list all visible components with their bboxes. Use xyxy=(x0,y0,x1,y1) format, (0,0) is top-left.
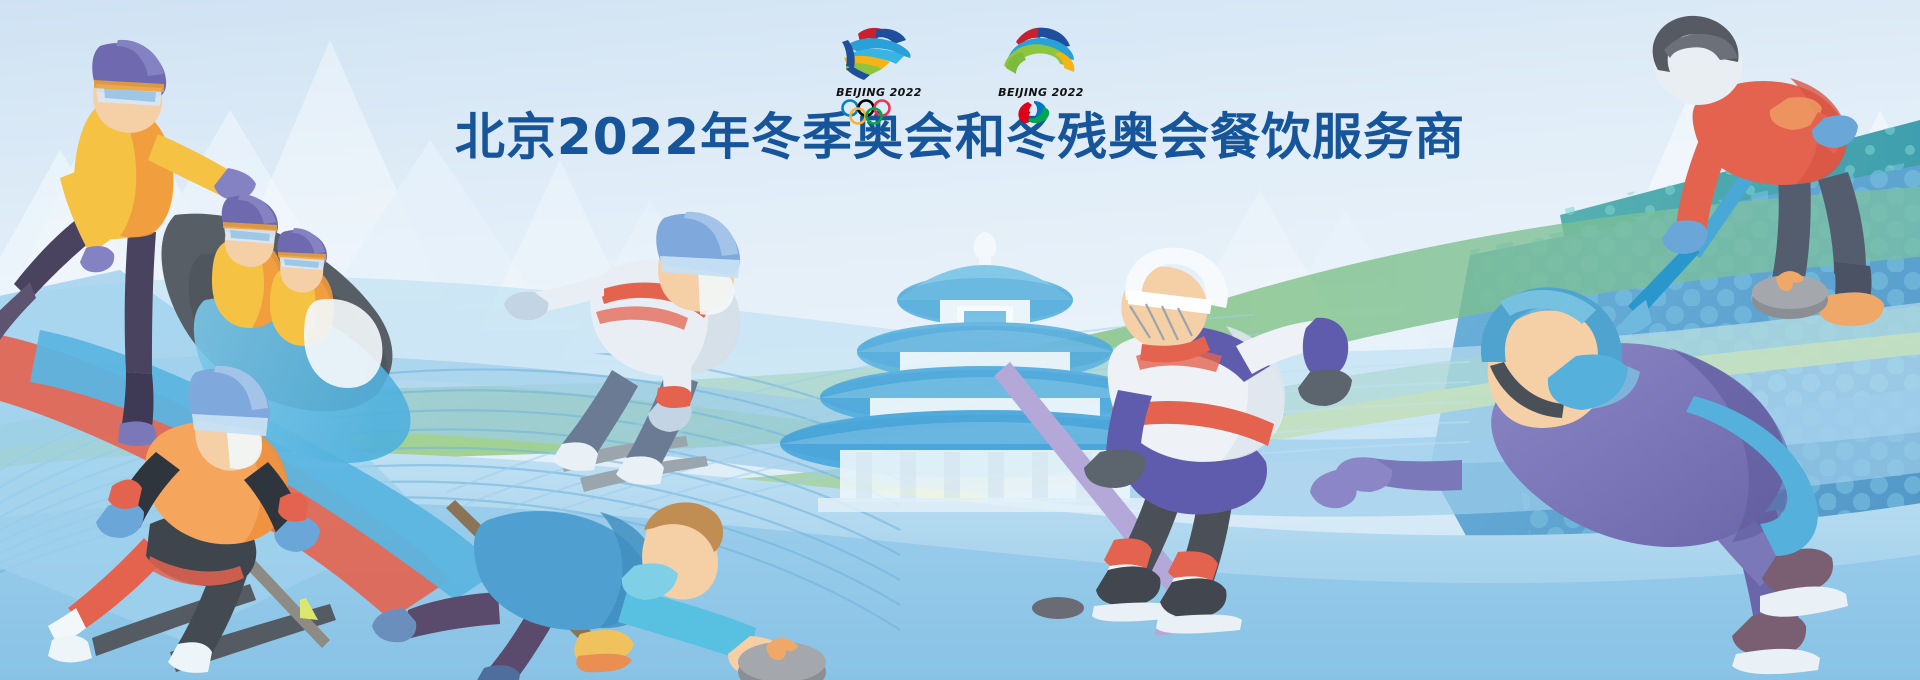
olympic-wordmark: BEIJING 2022 xyxy=(824,86,934,99)
paralympic-emblem-swoosh xyxy=(986,24,1096,80)
olympic-emblem-swoosh xyxy=(824,24,934,80)
athlete-speed-skater-right xyxy=(1310,287,1848,674)
emblem-row: BEIJING 2022 BEIJING 2022 xyxy=(0,24,1920,130)
paralympic-agitos-icon xyxy=(998,99,1084,125)
olympic-rings-icon xyxy=(836,99,922,125)
paralympic-emblem: BEIJING 2022 xyxy=(986,24,1096,130)
curling-stone-right xyxy=(1752,271,1828,319)
olympic-emblem: BEIJING 2022 xyxy=(824,24,934,130)
olympic-banner: BEIJING 2022 BEIJING 2022 xyxy=(0,0,1920,680)
athlete-ice-hockey-player xyxy=(994,248,1352,636)
paralympic-wordmark: BEIJING 2022 xyxy=(986,86,1096,99)
athlete-speed-skater-center xyxy=(504,212,740,492)
